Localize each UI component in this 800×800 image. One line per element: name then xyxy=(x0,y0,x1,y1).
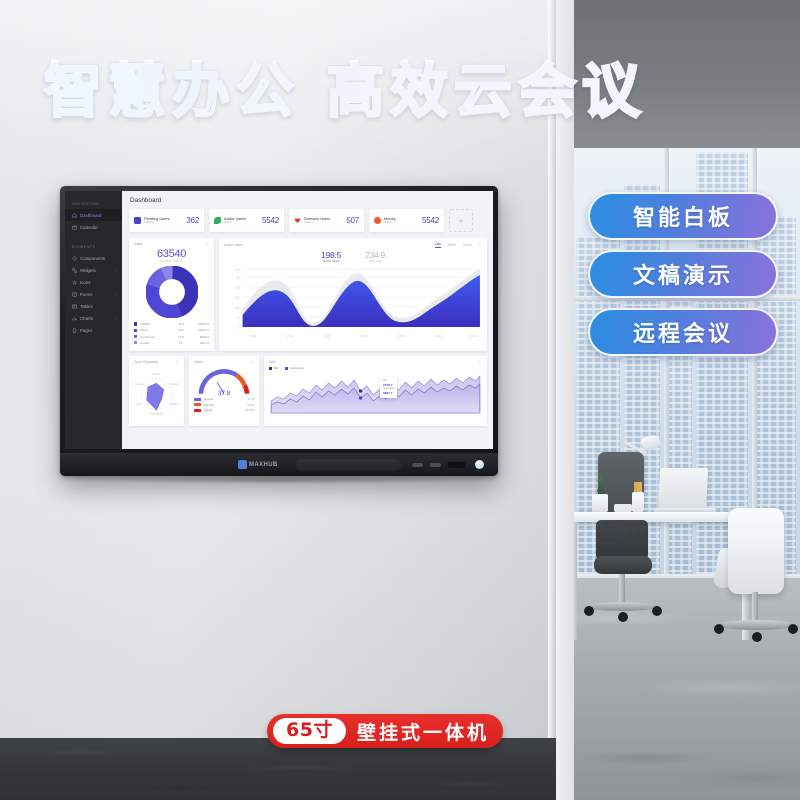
legend-name: E-mail xyxy=(140,341,178,345)
legend-percent: 7% xyxy=(178,341,191,345)
chair-caster xyxy=(788,624,798,634)
dashboard-sidebar: NAVIGATION Dashboard Calendar ELEMENTS C… xyxy=(65,191,122,449)
card-title: Line xyxy=(269,360,275,364)
legend-swatch xyxy=(285,367,288,370)
tooltip-label-swimming: Swimming xyxy=(383,387,395,390)
kpi-card-dormant-users[interactable]: Dormant Users inactive 507 xyxy=(289,209,364,232)
card-title: Sales xyxy=(134,242,142,246)
svg-text:07-07: 07-07 xyxy=(324,335,331,338)
home-icon xyxy=(72,213,77,218)
legend-name: Bid xyxy=(274,366,278,370)
chart-tooltip: Bid 7318.4 Swimming 5881.7 xyxy=(380,377,398,398)
radar-axis-label: Basketball xyxy=(150,412,163,416)
radar-chart-svg: Tennis Soccer Hockey Basketball Golf Cri… xyxy=(134,366,179,422)
gear-icon[interactable] xyxy=(250,360,254,364)
legend-row: Direct 36% 22874.4 xyxy=(134,328,209,332)
screen-size-badge: 65寸 xyxy=(273,718,346,744)
usb-port xyxy=(430,463,441,467)
feature-pill-presentation[interactable]: 文稿演示 xyxy=(588,250,778,298)
chair-caster xyxy=(652,606,662,616)
stat-label-butter-total: Butter Total xyxy=(321,259,341,263)
kpi-card-money[interactable]: Money dollars 5542 xyxy=(369,209,444,232)
sidebar-item-tables[interactable]: Tables › xyxy=(65,300,122,312)
legend-name: Affiliate xyxy=(140,322,178,326)
legend-name: Sponsored xyxy=(140,335,178,339)
hdmi-port xyxy=(448,462,465,468)
legend-swatch xyxy=(134,322,137,325)
legend-name: Direct xyxy=(140,328,178,332)
gauge-legend: Normal 0-70 Warning 70-90 xyxy=(194,397,254,412)
tooltip-label-bid: Bid xyxy=(383,379,387,382)
sidebar-item-components[interactable]: Components › xyxy=(65,252,122,264)
kpi-card-active-users[interactable]: Active Users online 5542 xyxy=(209,209,284,232)
area-stats: 198.5 Butter Total 234.9 Flow Total xyxy=(224,250,482,263)
mount-type-label: 壁挂式一体机 xyxy=(357,718,489,745)
area-chart-svg: 050 100150 200250 300 07-0507-06 07-0707… xyxy=(224,265,482,341)
svg-text:07-05: 07-05 xyxy=(250,335,257,338)
desk-lamp-base xyxy=(614,504,632,512)
sales-more-info-label: MORE INFO xyxy=(134,259,209,263)
donut-chart-svg xyxy=(146,266,198,318)
line-chart-svg xyxy=(269,371,482,415)
svg-text:07-06: 07-06 xyxy=(287,335,294,338)
legend-row: E-mail 7% 4447.8 xyxy=(134,341,209,345)
legend-value: 27957.6 xyxy=(191,322,209,326)
sidebar-item-dashboard[interactable]: Dashboard xyxy=(65,209,122,221)
sidebar-item-label: Charts xyxy=(80,316,93,321)
office-chair-dark-base xyxy=(586,602,658,611)
components-icon xyxy=(72,256,77,261)
active-users-area-card: Active Users Day Week Month xyxy=(219,238,487,351)
sidebar-item-label: Tables xyxy=(80,304,93,309)
legend-percent: 13% xyxy=(178,335,191,339)
chair-caster xyxy=(618,612,628,622)
sidebar-item-label: Pages xyxy=(80,328,92,333)
legend-swatch xyxy=(134,341,137,344)
tables-icon xyxy=(72,304,77,309)
dashboard-main: Dashboard Pending Users awaiting xyxy=(122,191,493,449)
gauge-value: 37.8 xyxy=(218,390,231,396)
brand-logo-text: MAXHUB xyxy=(249,462,278,468)
legend-item-swimming[interactable]: Swimming xyxy=(285,366,303,370)
svg-text:100: 100 xyxy=(235,307,240,310)
charts-row-secondary: Sport Popularity xyxy=(129,356,487,426)
svg-text:50: 50 xyxy=(237,317,240,320)
wall-mounted-display: NAVIGATION Dashboard Calendar ELEMENTS C… xyxy=(60,186,498,476)
power-button[interactable] xyxy=(475,460,484,469)
donut-legend: Affiliate 44% 27957.6 Direct 36% 22874.4 xyxy=(134,322,209,345)
sidebar-caption-navigation: NAVIGATION xyxy=(65,197,122,209)
laptop-screen xyxy=(658,468,708,512)
add-kpi-card-button[interactable]: + xyxy=(449,209,473,232)
legend-range: 70-90 xyxy=(247,403,254,407)
office-chair-dark-seat xyxy=(594,556,652,574)
feature-pill-list: 智能白板 文稿演示 远程会议 xyxy=(588,192,784,366)
sidebar-item-pages[interactable]: Pages › xyxy=(65,324,122,336)
book-icon xyxy=(134,217,141,224)
legend-range: 0-70 xyxy=(248,397,254,401)
gauge-chart-svg: 37.8 xyxy=(194,366,254,396)
sidebar-item-charts[interactable]: Charts › xyxy=(65,312,122,324)
tooltip-value-swimming: 5881.7 xyxy=(383,391,395,396)
legend-swatch xyxy=(269,367,272,370)
charts-icon xyxy=(72,316,77,321)
widgets-icon xyxy=(72,268,77,273)
legend-name: Swimming xyxy=(290,366,303,370)
legend-swatch xyxy=(134,329,137,332)
kpi-value: 5542 xyxy=(422,216,439,225)
donut-chart xyxy=(134,266,209,318)
legend-row: Danger 90-100 xyxy=(194,408,254,412)
card-title: Active Users xyxy=(224,243,243,247)
svg-text:200: 200 xyxy=(235,287,240,290)
kpi-subtitle: inactive xyxy=(304,221,330,224)
legend-name: Warning xyxy=(204,403,247,407)
plant-pot xyxy=(592,494,608,512)
gear-icon[interactable] xyxy=(205,242,209,246)
legend-swatch xyxy=(194,403,201,406)
forms-icon xyxy=(72,292,77,297)
chevron-right-icon: › xyxy=(115,292,116,297)
chair-caster xyxy=(584,606,594,616)
poster-canvas: 智慧办公 高效云会议 智能白板 文稿演示 远程会议 NAVIGATION Das… xyxy=(0,0,800,800)
sidebar-item-label: Calendar xyxy=(80,225,98,230)
calendar-icon xyxy=(72,225,77,230)
product-banner: 65寸 壁挂式一体机 xyxy=(267,714,503,748)
chevron-right-icon: › xyxy=(115,256,116,261)
legend-percent: 44% xyxy=(178,322,191,326)
sidebar-item-icons[interactable]: Icons › xyxy=(65,276,122,288)
tab-day[interactable]: Day xyxy=(435,242,441,248)
sidebar-item-forms[interactable]: Forms › xyxy=(65,288,122,300)
pencil-holder xyxy=(632,492,644,512)
sidebar-item-label: Forms xyxy=(80,292,92,297)
period-tabs: Day Week Month xyxy=(435,242,472,248)
sidebar-item-label: Icons xyxy=(80,280,91,285)
legend-row: Affiliate 44% 27957.6 xyxy=(134,322,209,326)
chevron-right-icon: › xyxy=(115,316,116,321)
sales-donut-card: Sales 63540 MORE INFO xyxy=(129,238,214,351)
legend-row: Warning 70-90 xyxy=(194,403,254,407)
radar-axis-label: Tennis xyxy=(153,372,161,376)
legend-range: 90-100 xyxy=(245,408,254,412)
leaf-icon xyxy=(214,217,221,224)
legend-value: 4447.8 xyxy=(191,341,209,345)
card-title: Users xyxy=(194,360,203,364)
usb-port xyxy=(412,463,423,467)
star-icon xyxy=(72,280,77,285)
office-chair-dark-mesh xyxy=(596,520,648,560)
radar-axis-label: Golf xyxy=(136,402,141,406)
pages-icon xyxy=(72,328,77,333)
heart-icon xyxy=(294,217,301,224)
legend-swatch xyxy=(194,398,201,401)
sport-popularity-card: Sport Popularity xyxy=(129,356,184,426)
charts-row-primary: Sales 63540 MORE INFO xyxy=(129,238,487,351)
chevron-right-icon: › xyxy=(115,304,116,309)
svg-text:300: 300 xyxy=(235,269,240,272)
legend-swatch xyxy=(134,335,137,338)
device-shadow xyxy=(78,476,480,484)
legend-value: 8260.2 xyxy=(191,335,209,339)
chevron-right-icon: › xyxy=(115,268,116,273)
users-gauge-card: Users xyxy=(189,356,259,426)
sidebar-item-label: Widgets xyxy=(80,268,96,273)
line-legend: Bid Swimming xyxy=(269,366,482,370)
coin-icon xyxy=(374,217,381,224)
feature-pill-remote-meeting[interactable]: 远程会议 xyxy=(588,308,778,356)
tab-week[interactable]: Week xyxy=(448,243,456,248)
svg-text:07-10: 07-10 xyxy=(436,335,443,338)
display-screen: NAVIGATION Dashboard Calendar ELEMENTS C… xyxy=(65,191,493,449)
tab-month[interactable]: Month xyxy=(463,243,472,248)
line-chart-card: Line Bid Swimming xyxy=(264,356,487,426)
kpi-card-pending-users[interactable]: Pending Users awaiting 362 xyxy=(129,209,204,232)
speaker-grille xyxy=(296,459,401,471)
sidebar-item-calendar[interactable]: Calendar xyxy=(65,221,122,233)
gear-icon[interactable] xyxy=(478,360,482,364)
radar-axis-label: Hockey xyxy=(170,402,179,406)
kpi-value: 5542 xyxy=(262,216,279,225)
chair-caster xyxy=(714,624,724,634)
sidebar-item-label: Components xyxy=(80,256,105,261)
legend-percent: 36% xyxy=(178,328,191,332)
legend-value: 22874.4 xyxy=(191,328,209,332)
kpi-subtitle: awaiting xyxy=(144,221,170,224)
svg-text:0: 0 xyxy=(238,327,240,330)
sidebar-item-widgets[interactable]: Widgets › xyxy=(65,264,122,276)
svg-text:07-09: 07-09 xyxy=(398,335,405,338)
legend-name: Danger xyxy=(204,408,245,412)
sidebar-item-label: Dashboard xyxy=(80,213,101,218)
page-title: Dashboard xyxy=(130,197,487,204)
legend-name: Normal xyxy=(204,397,248,401)
brand-logo: MAXHUB xyxy=(238,460,278,469)
radar-axis-label: Soccer xyxy=(170,382,178,386)
chair-caster xyxy=(752,632,762,642)
gear-icon[interactable] xyxy=(478,243,482,247)
office-chair-white-base xyxy=(716,620,796,630)
card-title: Sport Popularity xyxy=(134,360,158,364)
radar-axis-label: Cricket xyxy=(134,382,143,386)
legend-row: Sponsored 13% 8260.2 xyxy=(134,335,209,339)
brand-logo-mark xyxy=(238,460,247,469)
kpi-card-row: Pending Users awaiting 362 Active Users xyxy=(129,209,487,232)
dashboard-app: NAVIGATION Dashboard Calendar ELEMENTS C… xyxy=(65,191,493,449)
chevron-right-icon: › xyxy=(115,328,116,333)
svg-text:150: 150 xyxy=(235,297,240,300)
chevron-right-icon: › xyxy=(115,280,116,285)
sidebar-caption-elements: ELEMENTS xyxy=(65,240,122,252)
page-headline: 智慧办公 高效云会议 xyxy=(0,62,690,120)
legend-row: Normal 0-70 xyxy=(194,397,254,401)
gear-icon[interactable] xyxy=(175,360,179,364)
feature-pill-whiteboard[interactable]: 智能白板 xyxy=(588,192,778,240)
office-chair-white-back xyxy=(728,508,784,594)
kpi-value: 507 xyxy=(346,216,359,225)
legend-item-bid[interactable]: Bid xyxy=(269,366,278,370)
kpi-subtitle: dollars xyxy=(384,221,396,224)
svg-text:07-11: 07-11 xyxy=(471,335,478,338)
svg-text:250: 250 xyxy=(235,277,240,280)
display-bottom-bezel: MAXHUB xyxy=(60,453,498,476)
svg-text:07-08: 07-08 xyxy=(361,335,368,338)
kpi-subtitle: online xyxy=(224,221,246,224)
legend-swatch xyxy=(194,409,201,412)
kpi-value: 362 xyxy=(186,216,199,225)
